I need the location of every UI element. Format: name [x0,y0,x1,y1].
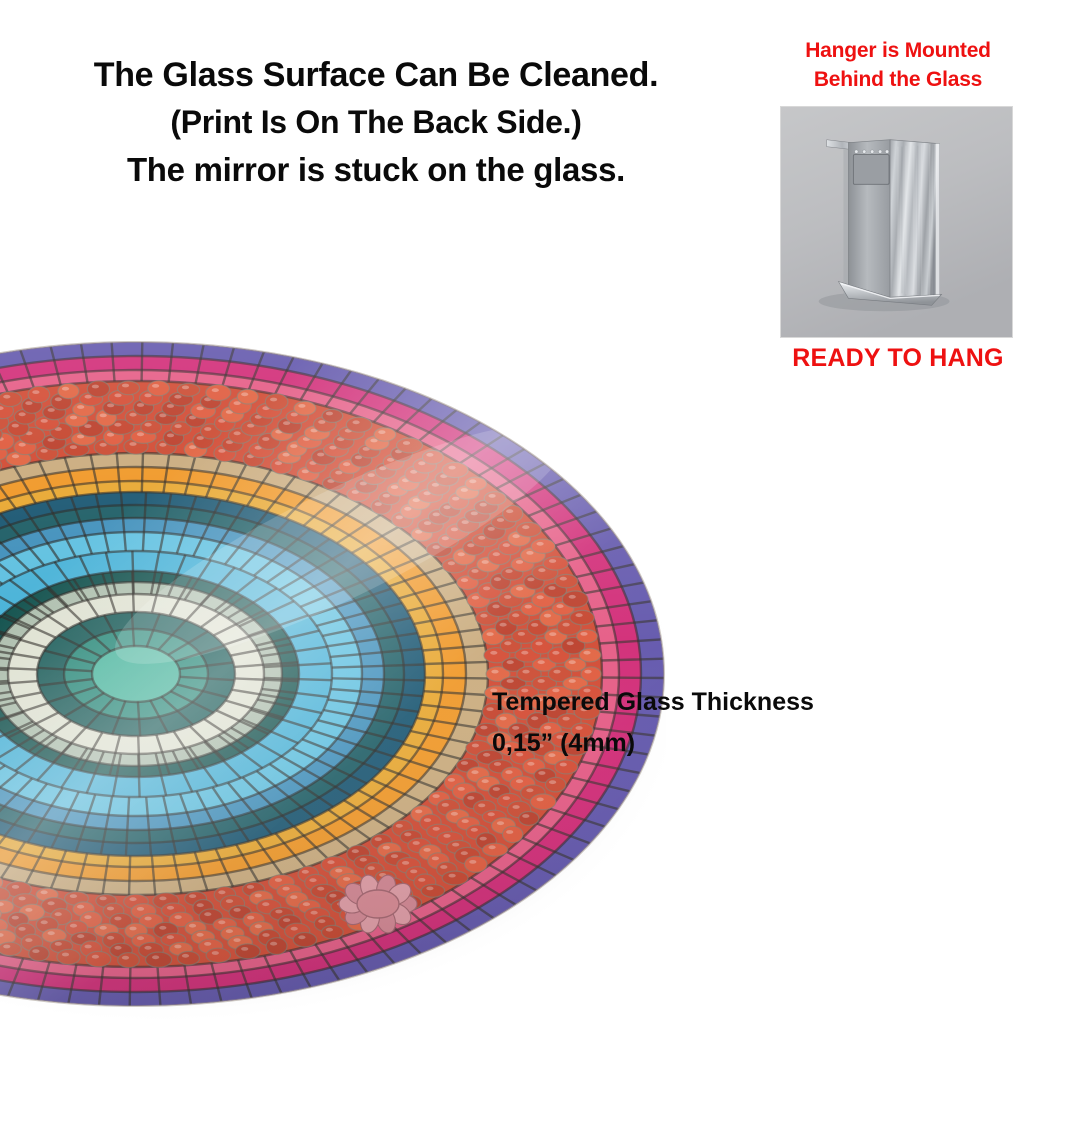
headline-line-3: The mirror is stuck on the glass. [0,146,752,193]
thickness-caption: Tempered Glass Thickness 0,15” (4mm) [492,682,814,764]
thickness-line-2: 0,15” (4mm) [492,723,814,764]
thickness-line-1: Tempered Glass Thickness [492,682,814,723]
hanger-bracket-illustration [781,107,1012,337]
headline-line-2: (Print Is On The Back Side.) [0,99,752,146]
bracket-slot-cutout [853,155,889,185]
hanger-heading-line-1: Hanger is Mounted [770,36,1026,65]
ready-to-hang-label: READY TO HANG [770,344,1026,373]
hanger-photo [780,106,1013,338]
headline-line-1: The Glass Surface Can Be Cleaned. [0,52,752,99]
bracket-edge-highlight [936,144,940,296]
hanger-info-panel: Hanger is Mounted Behind the Glass [770,36,1026,94]
headline-block: The Glass Surface Can Be Cleaned. (Print… [0,52,752,193]
hanger-heading: Hanger is Mounted Behind the Glass [770,36,1026,94]
hanger-heading-line-2: Behind the Glass [770,65,1026,94]
bracket-front-plate [890,140,940,298]
